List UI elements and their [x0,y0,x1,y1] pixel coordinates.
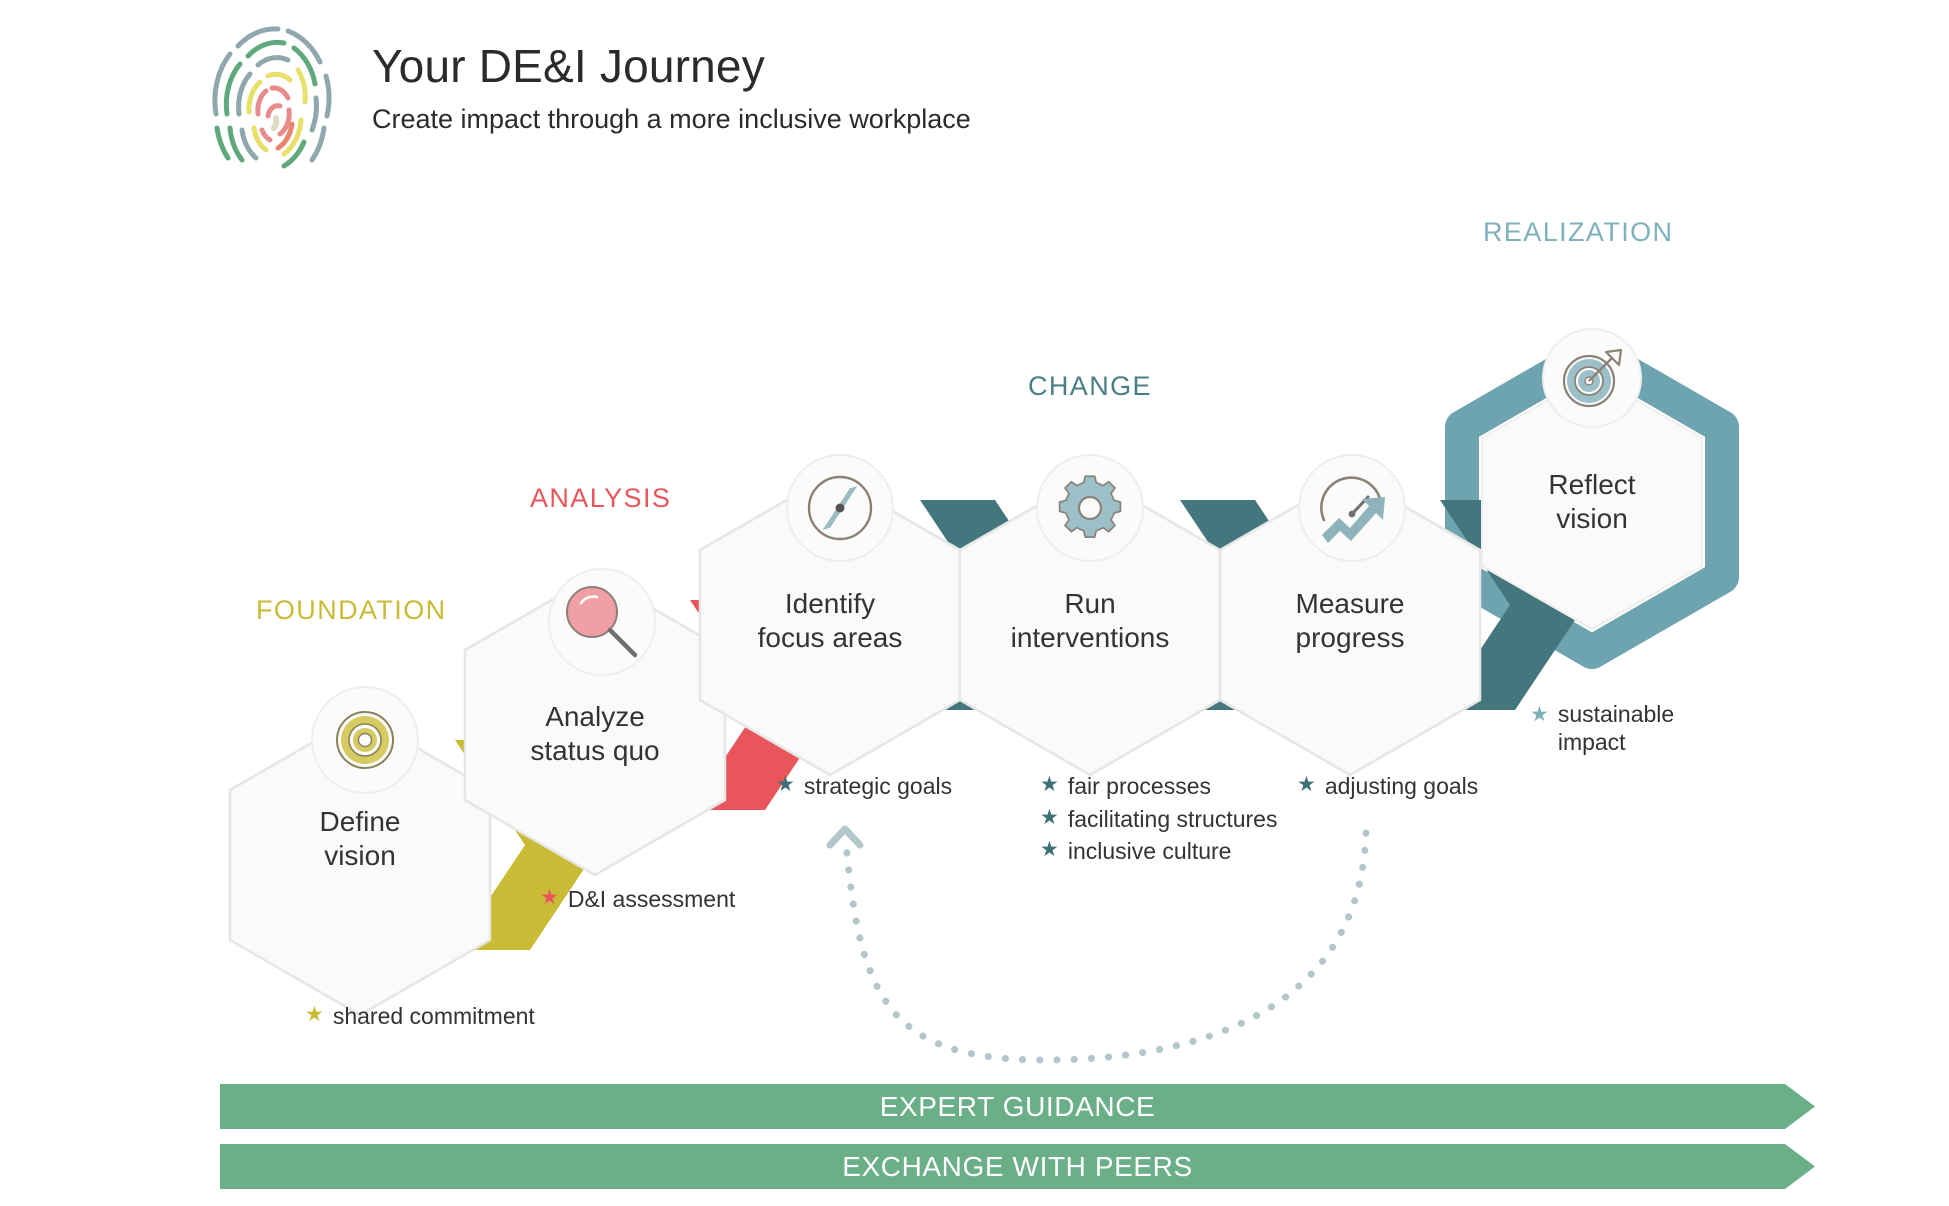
bullet-text: shared commitment [333,1000,535,1033]
bullets-analysis-outcomes: ★ D&I assessment [540,883,735,916]
star-icon: ★ [1040,770,1059,800]
bar-expert-guidance[interactable]: EXPERT GUIDANCE [220,1084,1815,1129]
hex-line2: focus areas [700,621,960,655]
bullet-text: inclusive culture [1068,835,1232,868]
hex-line2: interventions [960,621,1220,655]
bullet-item: ★ fair processes [1040,770,1277,803]
hex-label-reflect-vision: Reflect vision [1482,468,1702,535]
bullet-text: D&I assessment [568,883,735,916]
hex-line2: status quo [465,734,725,768]
bullets-interventions-outcomes: ★ fair processes ★ facilitating structur… [1040,770,1277,868]
star-icon: ★ [1040,803,1059,833]
hex-label-identify-focus-areas: Identify focus areas [700,587,960,654]
bullet-text: strategic goals [804,770,952,803]
star-icon: ★ [305,1000,324,1030]
bullet-text: sustainable impact [1558,700,1693,756]
bullets-identify-outcomes: ★ strategic goals [776,770,952,803]
icon-circle-run-interventions [1037,455,1143,561]
hex-label-analyze-status-quo: Analyze status quo [465,700,725,767]
hex-line1: Reflect [1482,468,1702,502]
bar-label: EXPERT GUIDANCE [880,1091,1156,1123]
bullet-text: fair processes [1068,770,1211,803]
bar-exchange-with-peers[interactable]: EXCHANGE WITH PEERS [220,1144,1815,1189]
bullets-measure-outcomes: ★ adjusting goals [1297,770,1478,803]
bullet-item: ★ inclusive culture [1040,835,1277,868]
bottom-bars-2: EXCHANGE WITH PEERS [220,1144,1815,1189]
hex-label-define-vision: Define vision [230,805,490,872]
hex-line1: Run [960,587,1220,621]
bullet-item: ★ sustainable impact [1530,700,1693,756]
bullets-realization-outcomes: ★ sustainable impact [1530,700,1693,756]
bullseye-target-icon [337,712,393,768]
icon-circle-reflect-vision [1543,329,1641,427]
bullet-text: facilitating structures [1068,803,1278,836]
hex-label-measure-progress: Measure progress [1220,587,1480,654]
hex-line1: Define [230,805,490,839]
bullet-item: ★ shared commitment [305,1000,535,1033]
gear-icon [1060,476,1121,537]
star-icon: ★ [1040,835,1059,865]
star-icon: ★ [1297,770,1316,800]
hex-line1: Analyze [465,700,725,734]
bullets-foundation-outcomes: ★ shared commitment [305,1000,535,1033]
bottom-bars: EXPERT GUIDANCE [220,1084,1815,1129]
hex-line2: progress [1220,621,1480,655]
hex-line2: vision [1482,502,1702,536]
deandi-journey-infographic: Your DE&I Journey Create impact through … [0,0,1949,1206]
icon-circle-measure-progress [1299,455,1405,561]
hex-line1: Measure [1220,587,1480,621]
star-icon: ★ [540,883,559,913]
icon-circle-define-vision [312,687,418,793]
star-icon: ★ [1530,700,1549,730]
hex-line1: Identify [700,587,960,621]
bullet-item: ★ adjusting goals [1297,770,1478,803]
star-icon: ★ [776,770,795,800]
hex-label-run-interventions: Run interventions [960,587,1220,654]
bullet-item: ★ D&I assessment [540,883,735,916]
bullet-item: ★ strategic goals [776,770,952,803]
icon-circle-analyze-status-quo [549,569,655,675]
bar-label: EXCHANGE WITH PEERS [842,1151,1193,1183]
hex-line2: vision [230,839,490,873]
icon-circle-identify-focus-areas [787,455,893,561]
bullet-text: adjusting goals [1325,770,1478,803]
bullet-item: ★ facilitating structures [1040,803,1277,836]
